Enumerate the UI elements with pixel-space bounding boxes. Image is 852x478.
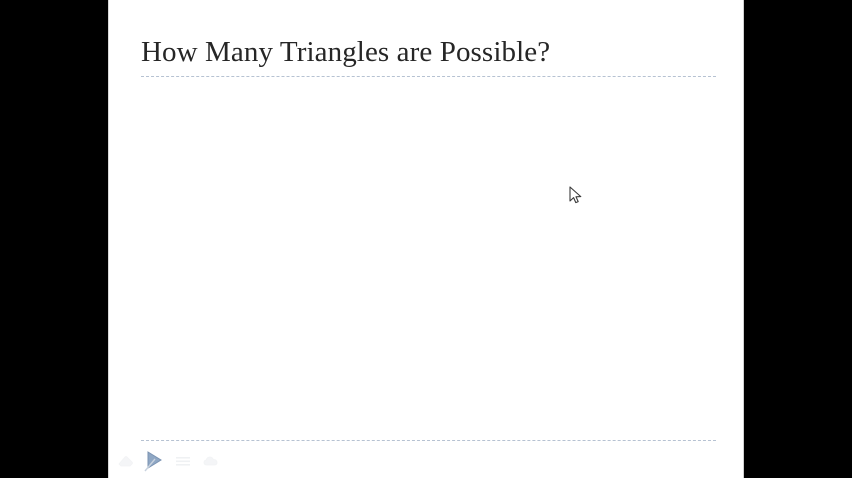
video-stage: How Many Triangles are Possible?	[0, 0, 852, 478]
bottom-toolbar[interactable]	[113, 446, 373, 476]
slide-body-canvas[interactable]	[141, 86, 716, 438]
slide-page[interactable]: How Many Triangles are Possible?	[108, 0, 744, 478]
play-button[interactable]	[141, 447, 167, 475]
title-divider	[141, 76, 716, 77]
title-block: How Many Triangles are Possible?	[141, 34, 716, 70]
page-title: How Many Triangles are Possible?	[141, 34, 716, 70]
cloud-button[interactable]	[199, 448, 223, 474]
cloud-icon	[202, 454, 220, 468]
eraser-button[interactable]	[113, 448, 137, 474]
play-icon	[143, 449, 165, 473]
letterbox-left	[0, 0, 108, 478]
lines-button[interactable]	[171, 448, 195, 474]
eraser-icon	[116, 454, 134, 468]
footer-divider	[141, 440, 716, 441]
letterbox-right	[744, 0, 852, 478]
lines-icon	[174, 454, 192, 468]
